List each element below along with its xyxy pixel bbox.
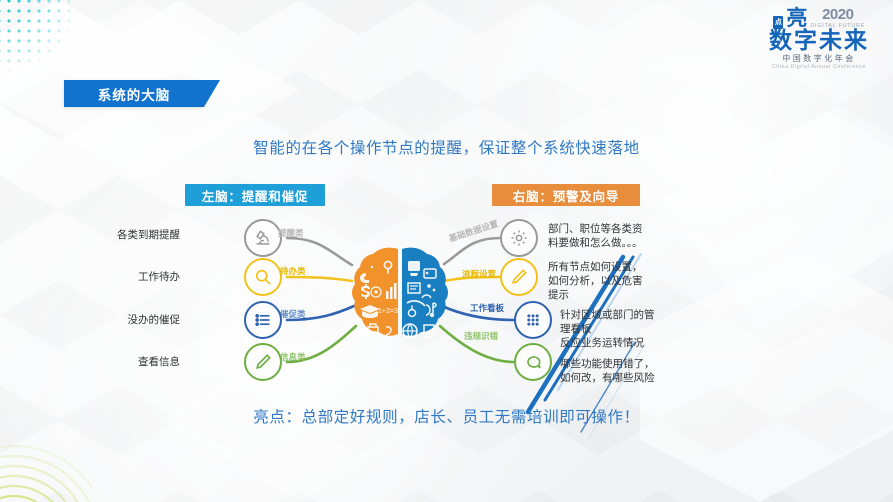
node-dashboard[interactable] — [514, 301, 552, 339]
logo-subtitle: 中国数字化年会 — [759, 53, 879, 64]
brain-right-hemisphere — [402, 248, 448, 338]
search-icon — [253, 267, 273, 287]
node-pencil-left[interactable] — [244, 343, 282, 381]
node-list[interactable] — [244, 301, 282, 339]
pencil-icon — [253, 352, 273, 372]
dashboard-icon — [523, 310, 543, 330]
left-wire-tag-0: 提醒类 — [278, 228, 304, 238]
left-branch-label-0: 各类到期提醒 — [90, 228, 180, 242]
headline-text: 智能的在各个操作节点的提醒，保证整个系统快速落地 — [0, 136, 893, 158]
logo-main-title: 数字未来 — [759, 28, 879, 53]
comment-icon — [523, 352, 543, 372]
brain-left-hemisphere: 1+2=3 — [352, 248, 398, 340]
conference-logo: 点 亮 2020 DIGITAL FUTURE 数字未来 中国数字化年会 Chi… — [759, 6, 879, 71]
gear-icon — [509, 228, 529, 248]
left-wire-tag-1: 待办类 — [280, 266, 306, 276]
node-microscope[interactable] — [244, 219, 282, 257]
right-wire-tag-1: 流程设置 — [462, 269, 496, 279]
left-branch-label-3: 查看信息 — [90, 355, 180, 369]
node-gear[interactable] — [500, 219, 538, 257]
right-branch-desc-1: 所有节点如何设置， 如何分析，以及危害 提示 — [548, 260, 668, 302]
logo-liang: 亮 — [786, 9, 807, 29]
left-hemisphere-label: 左脑：提醒和催促 — [185, 184, 325, 206]
left-branch-label-2: 没办的催促 — [90, 313, 180, 327]
list-icon — [253, 310, 273, 330]
page-title: 系统的大脑 — [98, 84, 171, 104]
svg-text:1+2=3: 1+2=3 — [378, 308, 398, 315]
microscope-icon — [253, 228, 273, 248]
pencil-icon — [509, 267, 529, 287]
slide-canvas: 点 亮 2020 DIGITAL FUTURE 数字未来 中国数字化年会 Chi… — [0, 0, 893, 502]
right-hemisphere-label: 右脑：预警及向导 — [492, 184, 640, 206]
right-branch-desc-2: 针对区域或部门的管 理看板 反应业务运转情况 — [560, 308, 685, 350]
right-wire-tag-2: 工作看板 — [470, 303, 504, 313]
banner-tail-shape — [204, 80, 220, 107]
bottom-note-text: 亮点：总部定好规则，店长、员工无需培训即可操作！ — [0, 405, 893, 427]
right-branch-desc-3: 哪些功能使用错了， 如何改，有哪些风险 — [560, 357, 685, 385]
node-search[interactable] — [244, 258, 282, 296]
left-wire-tag-3: 信息类 — [280, 352, 306, 362]
right-wire-tag-3: 违规识错 — [464, 331, 498, 341]
left-wire-tag-2: 催促类 — [280, 309, 306, 319]
right-branch-desc-0: 部门、职位等各类资 料要做和怎么做。。。 — [548, 222, 668, 250]
brain-illustration: 1+2=3 — [348, 243, 452, 351]
node-comment[interactable] — [514, 343, 552, 381]
node-pencil-right[interactable] — [500, 258, 538, 296]
right-wire-tag-0: 基础数据设置 — [448, 218, 500, 243]
logo-year: 2020 — [822, 6, 853, 23]
left-branch-label-1: 工作待办 — [90, 270, 180, 284]
logo-english-subtitle: China Digital Annual Conference — [759, 64, 879, 71]
section-title-banner: 系统的大脑 — [64, 80, 204, 107]
